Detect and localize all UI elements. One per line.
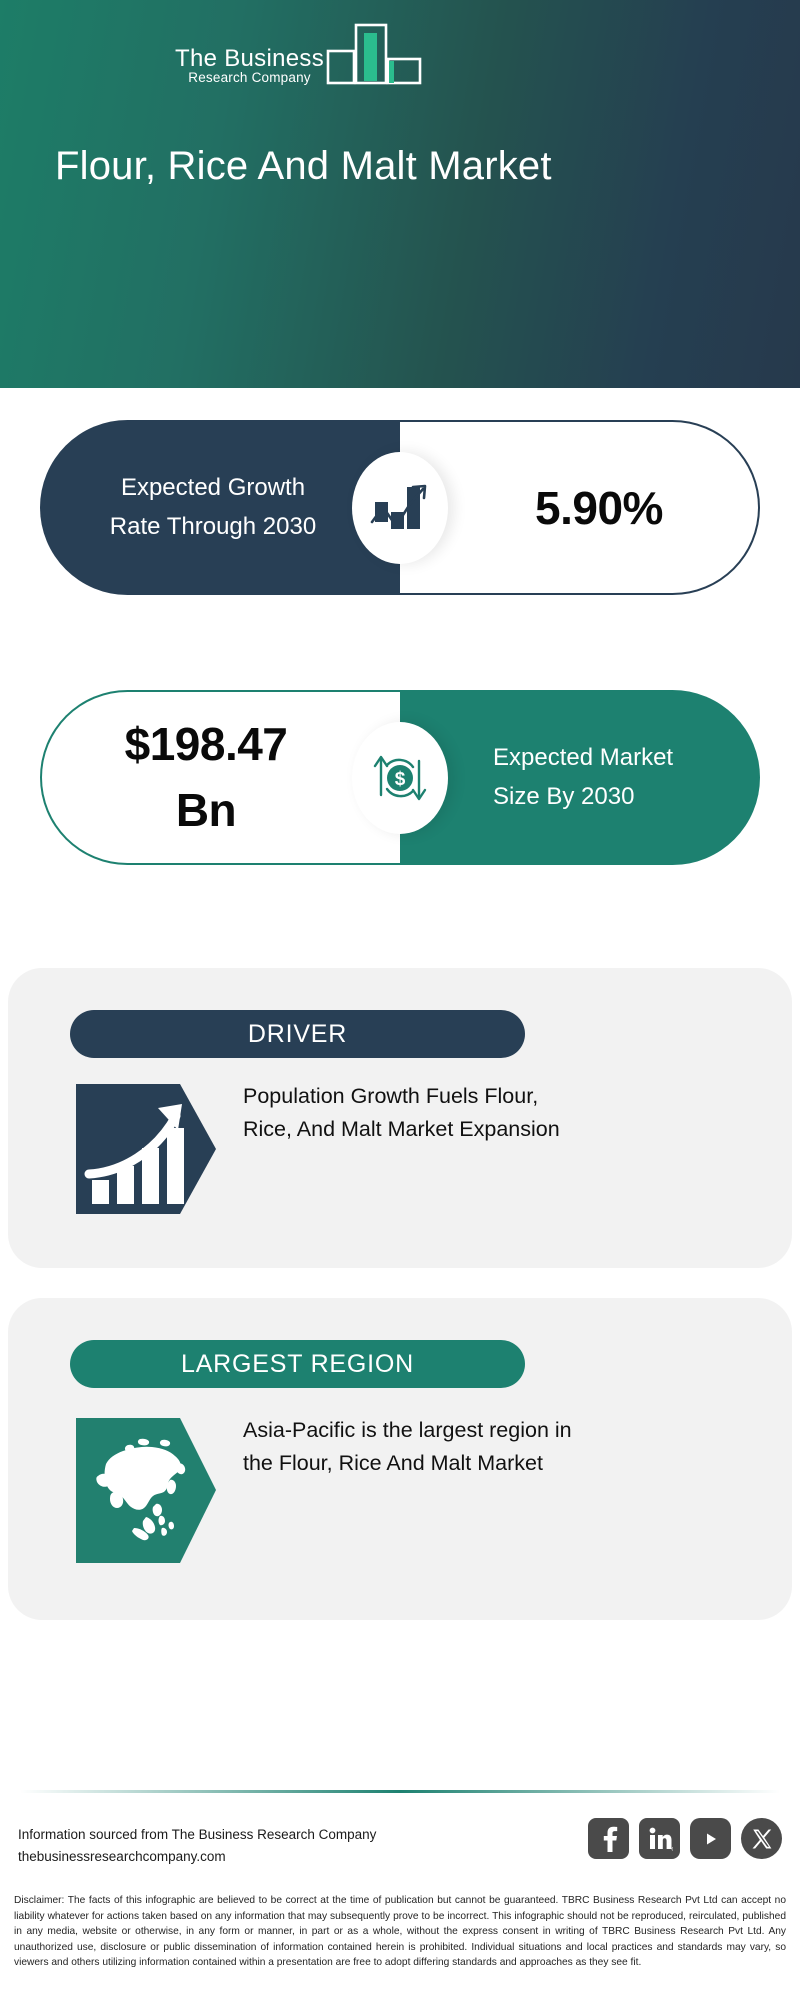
growth-chart-arrow-icon (76, 1084, 216, 1214)
driver-panel: DRIVER Population Growth Fuels Flour, Ri… (8, 968, 792, 1268)
stat-card-market-size: $198.47 Bn Expected Market Size By 2030 … (40, 690, 760, 865)
dollar-cycle-icon: $ (352, 722, 448, 834)
footer-source: Information sourced from The Business Re… (18, 1824, 376, 1868)
footer-source-line: Information sourced from The Business Re… (18, 1824, 376, 1846)
driver-pill-label: DRIVER (248, 1020, 347, 1049)
footer-website[interactable]: thebusinessresearchcompany.com (18, 1846, 376, 1868)
facebook-icon[interactable] (588, 1818, 629, 1859)
footer-divider (20, 1790, 780, 1793)
stat-card-label: Expected Market Size By 2030 (465, 739, 695, 817)
logo-line-2: Research Company (188, 71, 311, 86)
page-title: Flour, Rice And Malt Market (55, 143, 755, 190)
disclaimer-text: Disclaimer: The facts of this infographi… (14, 1893, 786, 1971)
stat-card-value-panel: 5.90% (400, 420, 760, 595)
stat-card-value: $198.47 Bn (114, 712, 329, 843)
logo-wordmark: The Business Research Company (175, 46, 324, 90)
linkedin-icon[interactable]: ® (639, 1818, 680, 1859)
largest-region-text: Asia-Pacific is the largest region in th… (243, 1414, 583, 1480)
social-links: ® (588, 1818, 782, 1859)
bar-chart-logo-mark (326, 21, 422, 90)
stat-card-label-panel: Expected Growth Rate Through 2030 (40, 420, 400, 595)
svg-text:®: ® (671, 1846, 673, 1852)
stat-card-label-panel: Expected Market Size By 2030 (400, 690, 760, 865)
header-banner: The Business Research Company Flour, Ric… (0, 0, 800, 388)
stat-card-label: Expected Growth Rate Through 2030 (105, 469, 335, 547)
largest-region-pill: LARGEST REGION (70, 1340, 525, 1388)
x-twitter-icon[interactable] (741, 1818, 782, 1859)
driver-text: Population Growth Fuels Flour, Rice, And… (243, 1080, 583, 1146)
driver-body: Population Growth Fuels Flour, Rice, And… (76, 1084, 583, 1214)
largest-region-body: Asia-Pacific is the largest region in th… (76, 1418, 583, 1563)
stat-card-growth-rate: Expected Growth Rate Through 2030 5.90% (40, 420, 760, 595)
youtube-icon[interactable] (690, 1818, 731, 1859)
stat-card-value-panel: $198.47 Bn (40, 690, 400, 865)
largest-region-pill-label: LARGEST REGION (181, 1350, 414, 1379)
growth-bar-arrow-icon (352, 452, 448, 564)
stat-card-value: 5.90% (495, 481, 663, 535)
driver-pill: DRIVER (70, 1010, 525, 1058)
largest-region-panel: LARGEST REGION (8, 1298, 792, 1620)
asia-map-icon (76, 1418, 216, 1563)
svg-text:$: $ (395, 769, 406, 790)
logo-line-1: The Business (175, 46, 324, 71)
company-logo[interactable]: The Business Research Company (175, 22, 425, 90)
